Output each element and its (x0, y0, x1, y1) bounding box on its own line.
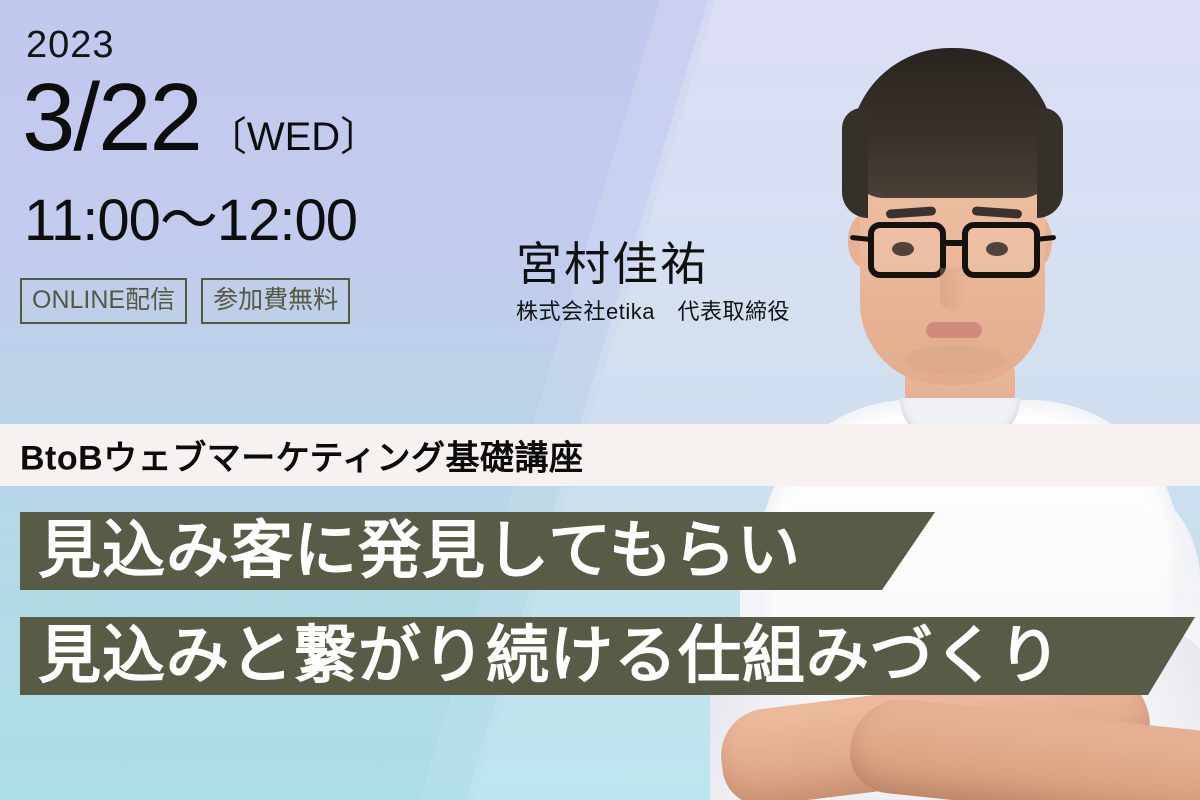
speaker-credit: 宮村佳祐 株式会社etika 代表取締役 (516, 240, 790, 326)
headline-band-1: 見込み客に発見してもらい (20, 512, 935, 590)
portrait-glasses-bridge (943, 240, 965, 246)
badge-free-admission: 参加費無料 (201, 278, 350, 324)
portrait-hair (850, 48, 1055, 198)
speaker-name: 宮村佳祐 (516, 240, 790, 288)
event-time-range: 11:00〜12:00 (24, 192, 357, 250)
headline-band-2: 見込みと繋がり続ける仕組みづくり (20, 617, 1195, 695)
seminar-series-band: BtoBウェブマーケティング基礎講座 (0, 424, 1200, 486)
portrait-mouth (926, 322, 982, 338)
headline-line-1: 見込み客に発見してもらい (38, 520, 801, 583)
event-date: 3/22 〔WED〕 (22, 72, 380, 163)
portrait-nose (940, 268, 964, 310)
event-year: 2023 (26, 26, 115, 64)
event-badge-group: ONLINE配信 参加費無料 (20, 278, 350, 324)
badge-online-streaming: ONLINE配信 (20, 278, 187, 324)
speaker-company-role: 株式会社etika 代表取締役 (516, 294, 790, 326)
seminar-series-label: BtoBウェブマーケティング基礎講座 (20, 431, 583, 480)
banner-canvas: 2023 3/22 〔WED〕 11:00〜12:00 ONLINE配信 参加費… (0, 0, 1200, 800)
portrait-chin (905, 345, 1005, 375)
event-day-of-week: 〔WED〕 (207, 104, 380, 162)
portrait-glasses-lens-left (868, 222, 946, 278)
event-month-day: 3/22 (22, 72, 201, 163)
headline-line-2: 見込みと繋がり続ける仕組みづくり (38, 625, 1062, 688)
portrait-glasses-lens-right (962, 222, 1040, 278)
